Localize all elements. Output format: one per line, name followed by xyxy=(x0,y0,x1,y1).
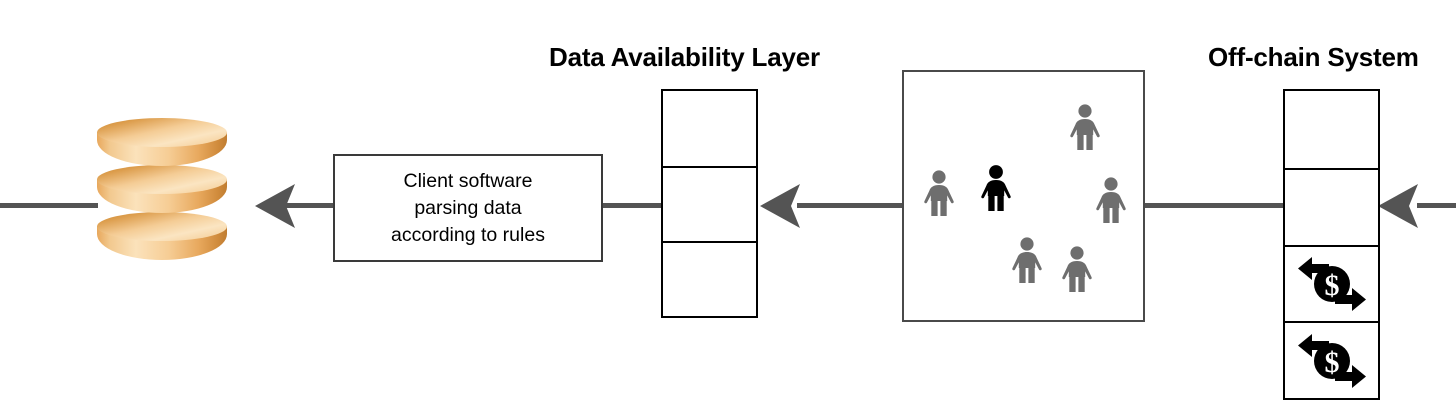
client-software-line-2: parsing data xyxy=(391,195,545,222)
arrow-client-to-database-head xyxy=(255,182,295,230)
off-chain-system-stack: $ $ xyxy=(1283,89,1380,400)
person-icon-2 xyxy=(979,165,1013,211)
offchain-cell-3: $ xyxy=(1285,245,1378,322)
off-chain-system-title: Off-chain System xyxy=(1208,42,1419,73)
database-disc-inner xyxy=(106,123,218,143)
connector-right-stub xyxy=(1417,203,1456,208)
dal-cell-2 xyxy=(663,166,756,241)
data-availability-layer-title: Data Availability Layer xyxy=(549,42,820,73)
arrow-into-offchain-head xyxy=(1378,182,1418,230)
person-icon-1 xyxy=(922,170,956,216)
money-transfer-icon: $ xyxy=(1296,330,1368,392)
database-disc-top-layer xyxy=(97,118,227,180)
money-transfer-icon: $ xyxy=(1296,253,1368,315)
participants-box xyxy=(902,70,1145,322)
client-software-line-3: according to rules xyxy=(391,222,545,249)
data-availability-layer-stack xyxy=(661,89,758,318)
person-icon-6 xyxy=(1060,246,1094,292)
client-software-text: Client software parsing data according t… xyxy=(391,168,545,249)
person-icon-4 xyxy=(1094,177,1128,223)
svg-text:$: $ xyxy=(1324,269,1339,302)
connector-participants-to-dal xyxy=(797,203,903,208)
arrow-participants-to-dal-head xyxy=(760,182,800,230)
connector-left-stub xyxy=(0,203,98,208)
offchain-cell-4: $ xyxy=(1285,321,1378,398)
person-icon-5 xyxy=(1010,237,1044,283)
person-icon-3 xyxy=(1068,104,1102,150)
dal-cell-3 xyxy=(663,241,756,316)
database-cylinder xyxy=(97,118,227,270)
client-software-line-1: Client software xyxy=(391,168,545,195)
connector-offchain-to-participants xyxy=(1144,203,1285,208)
offchain-cell-1 xyxy=(1285,91,1378,168)
svg-text:$: $ xyxy=(1324,346,1339,379)
connector-dal-to-client xyxy=(600,203,662,208)
diagram-canvas: Client software parsing data according t… xyxy=(0,0,1456,417)
client-software-box: Client software parsing data according t… xyxy=(333,154,603,262)
offchain-cell-2 xyxy=(1285,168,1378,245)
dal-cell-1 xyxy=(663,91,756,166)
